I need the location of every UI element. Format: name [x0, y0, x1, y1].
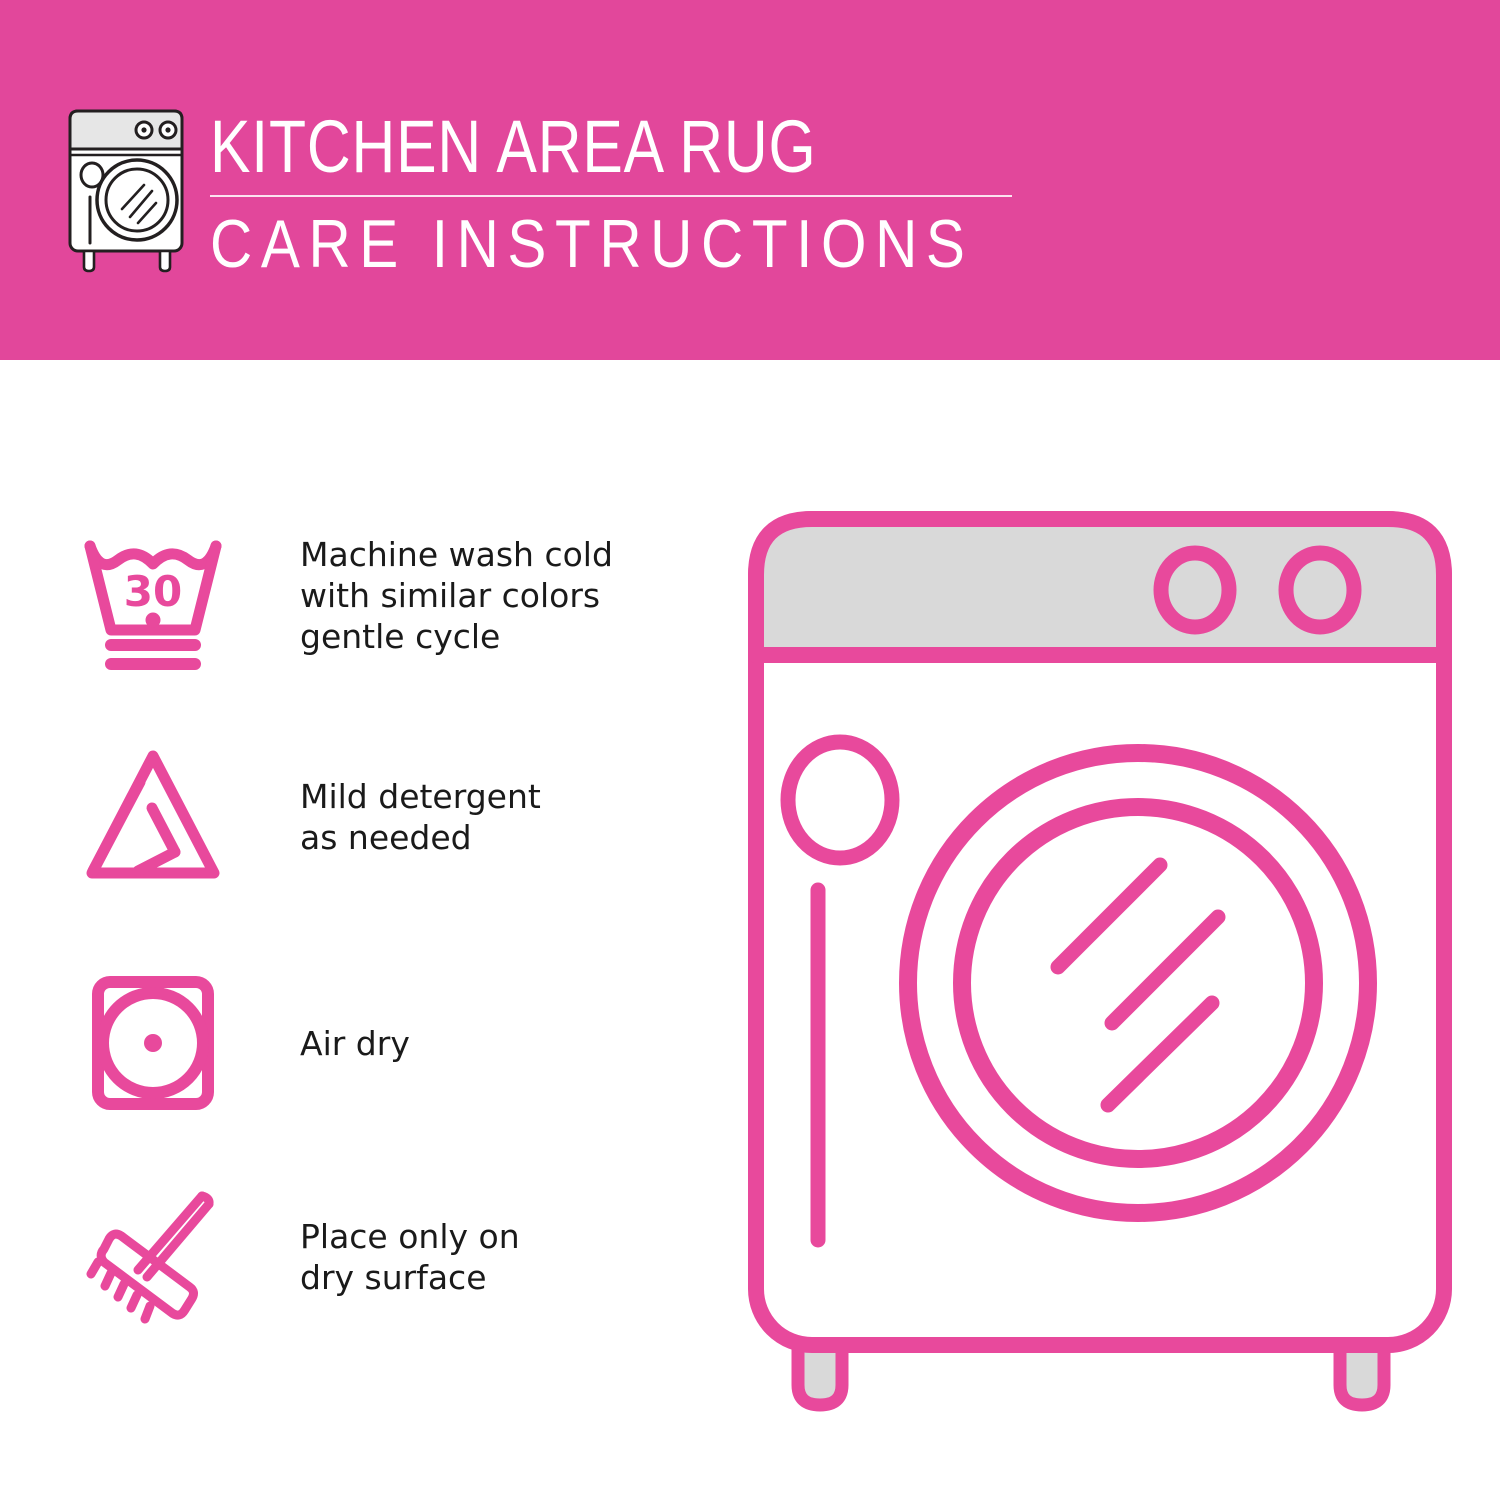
header-titles: KITCHEN AREA RUG CARE INSTRUCTIONS	[210, 105, 1098, 281]
care-row-air-dry: Air dry	[78, 968, 638, 1118]
care-row-machine-wash: 30 Machine wash cold with similar colors…	[78, 520, 638, 670]
broom-icon	[78, 1182, 228, 1332]
page-title: KITCHEN AREA RUG	[210, 107, 938, 187]
care-instructions-page: KITCHEN AREA RUG CARE INSTRUCTIONS	[0, 0, 1500, 1500]
care-text-machine-wash: Machine wash cold with similar colors ge…	[300, 534, 613, 657]
header-content: KITCHEN AREA RUG CARE INSTRUCTIONS	[64, 105, 1098, 281]
machine-knob-2	[1286, 553, 1354, 627]
care-text-dry-surface: Place only on dry surface	[300, 1216, 520, 1298]
care-row-dry-surface: Place only on dry surface	[78, 1182, 638, 1332]
care-text-air-dry: Air dry	[300, 1023, 410, 1064]
washing-machine-illustration	[740, 495, 1460, 1415]
care-row-mild-detergent: Mild detergent as needed	[78, 742, 638, 892]
washing-machine-icon	[64, 105, 192, 265]
wash-temperature-value: 30	[124, 567, 182, 616]
care-text-mild-detergent: Mild detergent as needed	[300, 776, 541, 858]
wash-tub-30-icon: 30	[78, 520, 228, 670]
triangle-bleach-icon	[78, 742, 228, 892]
machine-knob-1	[1161, 553, 1229, 627]
title-divider	[210, 195, 1012, 197]
care-instruction-list: 30 Machine wash cold with similar colors…	[0, 360, 700, 1500]
page-subtitle: CARE INSTRUCTIONS	[210, 207, 974, 281]
page-header: KITCHEN AREA RUG CARE INSTRUCTIONS	[0, 0, 1500, 360]
tumble-dry-icon	[78, 968, 228, 1118]
